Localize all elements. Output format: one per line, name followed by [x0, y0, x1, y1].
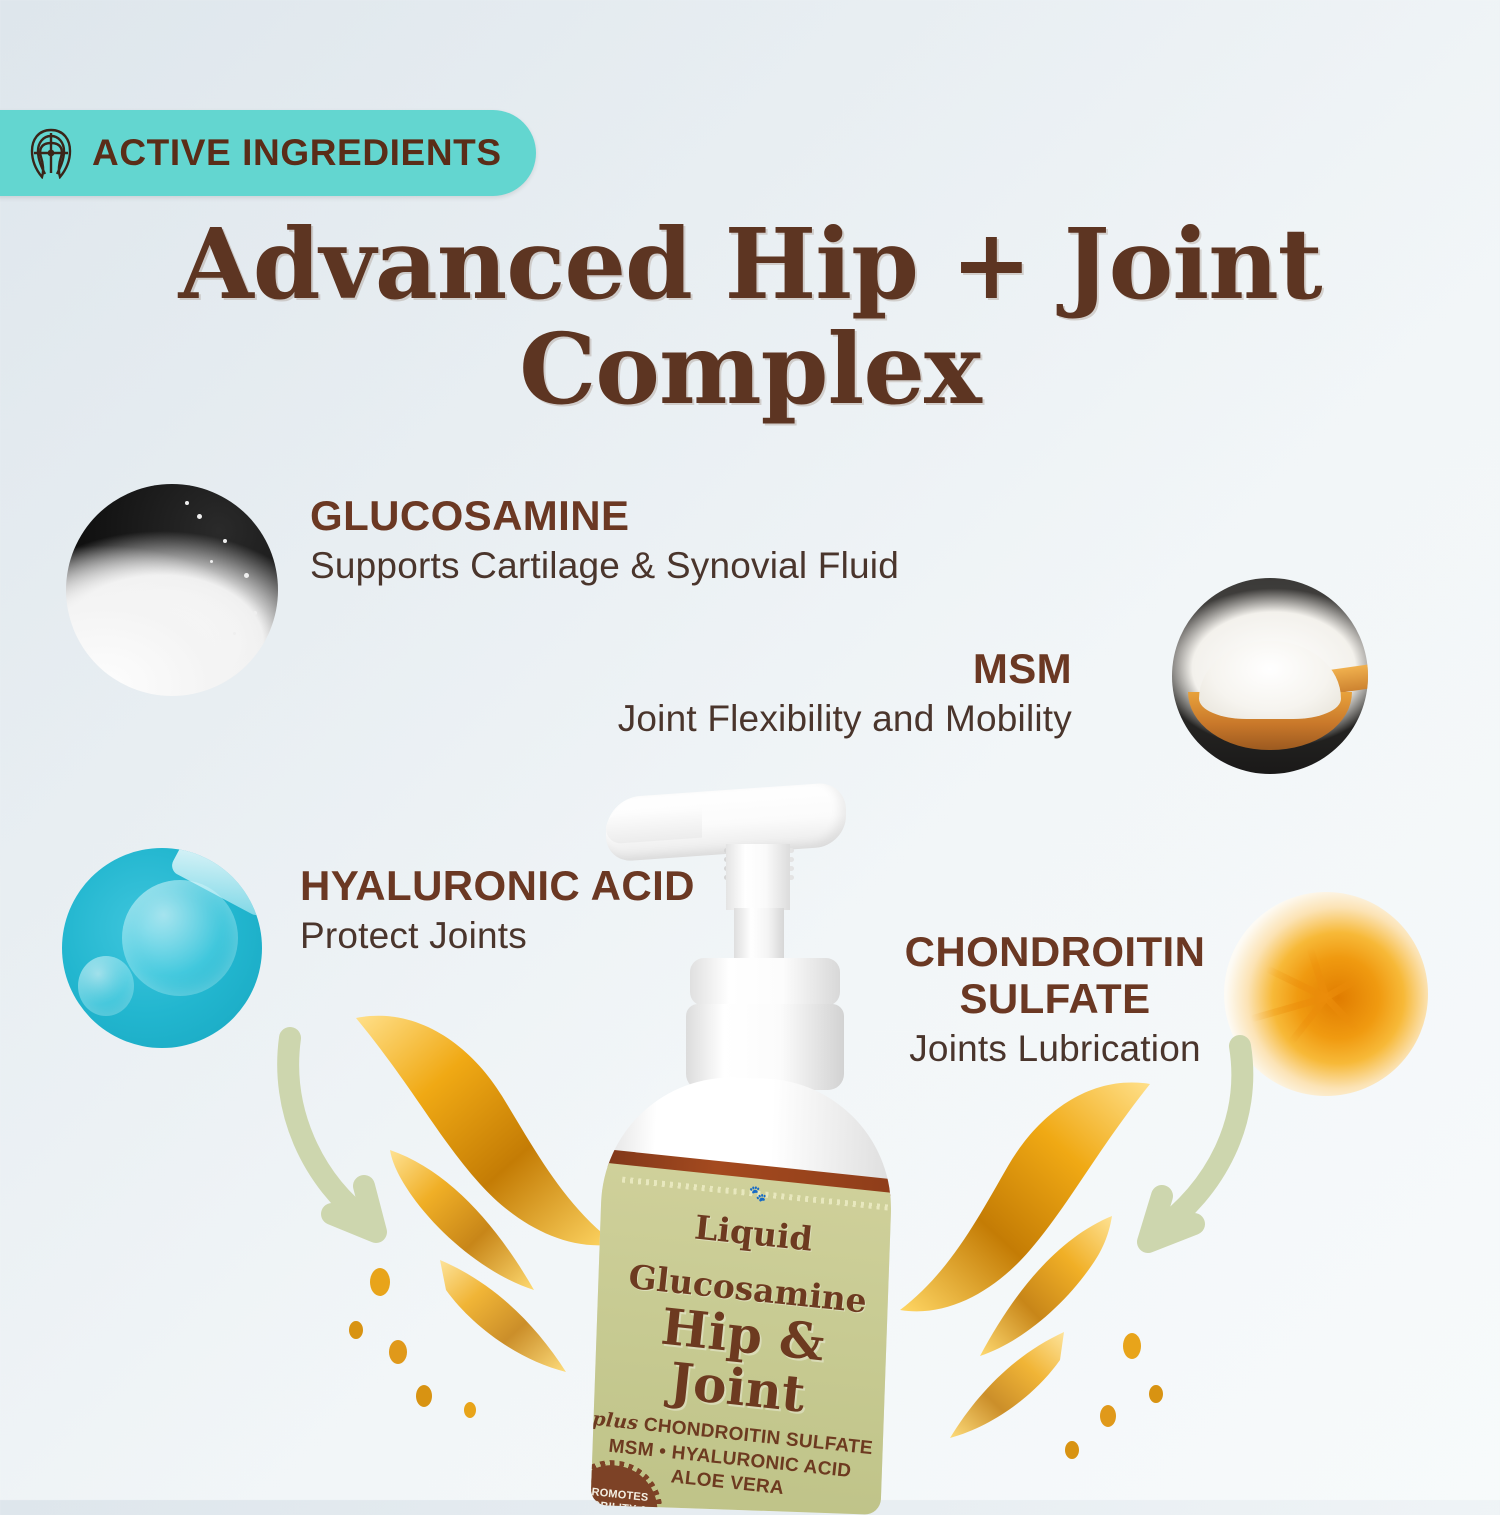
active-ingredients-badge: ACTIVE INGREDIENTS [0, 110, 536, 196]
active-ingredients-label: ACTIVE INGREDIENTS [92, 132, 502, 174]
oil-splash-right [850, 1060, 1180, 1460]
msm-photo [1172, 578, 1368, 774]
ingredient-name-line-2: SULFATE [860, 975, 1250, 1022]
glucosamine-photo [66, 484, 278, 696]
label-line-liquid: Liquid [600, 1201, 896, 1266]
headline-line-1: Advanced Hip + Joint [178, 207, 1321, 321]
ingredient-glucosamine: GLUCOSAMINE Supports Cartilage & Synovia… [310, 492, 899, 587]
pump-neck [726, 844, 790, 910]
ingredient-name: GLUCOSAMINE [310, 492, 899, 539]
ingredient-benefit: Supports Cartilage & Synovial Fluid [310, 545, 899, 587]
headline-line-2: Complex [0, 317, 1500, 422]
paw-print-icon: 🐾 [747, 1184, 767, 1204]
bottle-body: 🐾 Liquid Glucosamine Hip & Joint plus CH… [591, 1073, 896, 1515]
product-label: 🐾 Liquid Glucosamine Hip & Joint plus CH… [591, 1162, 896, 1515]
hyaluronic-acid-photo [62, 848, 262, 1048]
ingredient-msm: MSM Joint Flexibility and Mobility [618, 645, 1072, 740]
product-bottle: 🐾 Liquid Glucosamine Hip & Joint plus CH… [598, 790, 888, 1510]
pump-cap [686, 1004, 844, 1090]
ingredient-benefit: Joint Flexibility and Mobility [618, 698, 1072, 740]
ingredient-name-line-1: CHONDROITIN [860, 928, 1250, 975]
label-plus-prefix: plus [591, 1408, 639, 1435]
page-title: Advanced Hip + Joint Complex [0, 212, 1500, 422]
ingredient-name: MSM [618, 645, 1072, 692]
hip-joint-icon [28, 127, 74, 179]
pump-collar [690, 958, 840, 1006]
